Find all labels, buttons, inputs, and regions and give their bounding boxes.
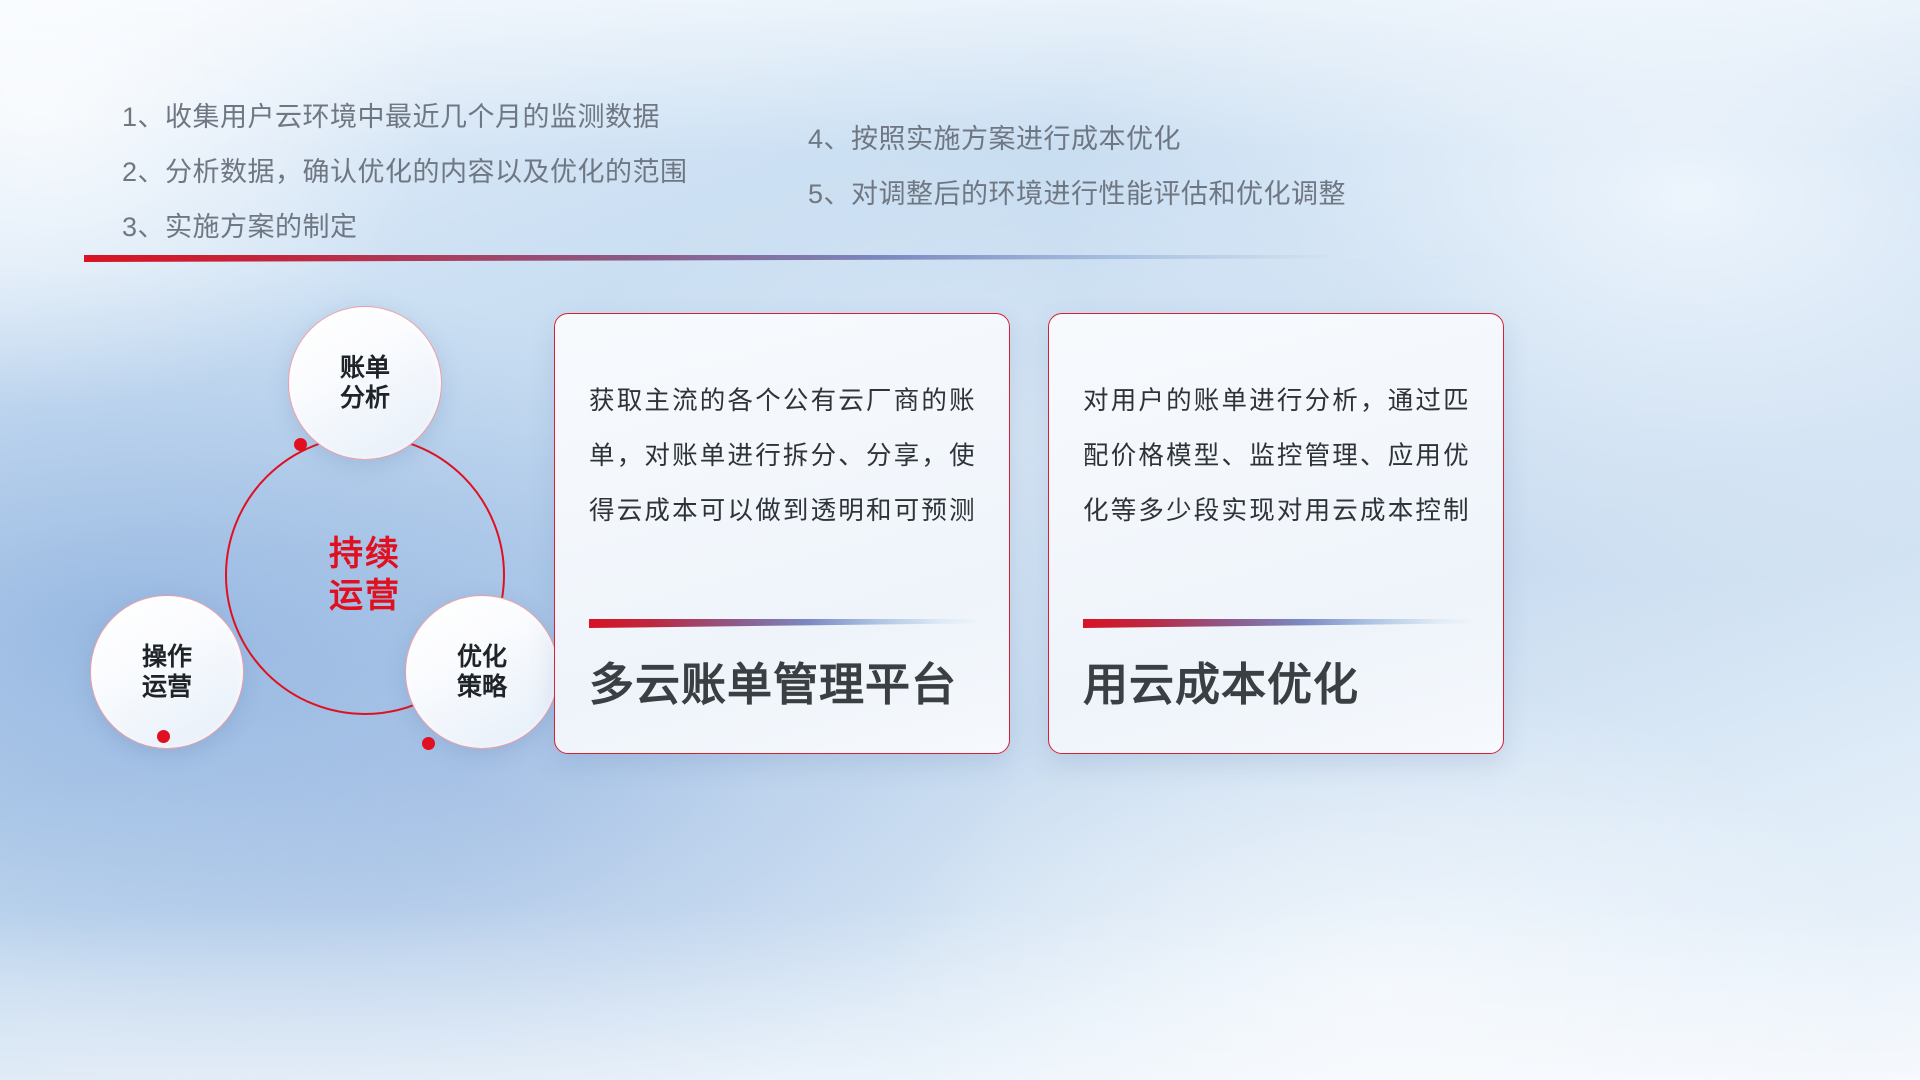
bullet-list-left: 1、收集用户云环境中最近几个月的监测数据 2、分析数据，确认优化的内容以及优化的… [122,104,688,269]
bullet-list-right: 4、按照实施方案进行成本优化 5、对调整后的环境进行性能评估和优化调整 [808,126,1346,236]
bubble-label-line1: 账单 [340,353,390,384]
card-title: 用云成本优化 [1083,662,1469,707]
card-accent-rule [1083,619,1475,628]
diagram-bubble-operations[interactable]: 操作 运营 [90,595,244,749]
bullet-item-1: 1、收集用户云环境中最近几个月的监测数据 [122,104,688,131]
bubble-label-line1: 优化 [457,642,507,673]
bullet-item-2: 2、分析数据，确认优化的内容以及优化的范围 [122,159,688,186]
diagram-bubble-optimization-strategy[interactable]: 优化 策略 [405,595,559,749]
bubble-label-line1: 操作 [142,642,192,673]
bullet-item-5: 5、对调整后的环境进行性能评估和优化调整 [808,181,1346,208]
diagram-bubble-bill-analysis[interactable]: 账单 分析 [288,306,442,460]
bubble-label-line2: 运营 [142,672,192,703]
card-cloud-cost-optimization[interactable]: 对用户的账单进行分析，通过匹配价格模型、监控管理、应用优化等多少段实现对用云成本… [1048,313,1504,754]
center-label-line1: 持续 [329,533,401,575]
bubble-label-line2: 分析 [340,383,390,414]
bullet-item-4: 4、按照实施方案进行成本优化 [808,126,1346,153]
continuous-operations-diagram: 持续 运营 账单 分析 操作 运营 优化 策略 [60,290,560,770]
card-accent-rule [589,619,981,628]
bullet-item-3: 3、实施方案的制定 [122,214,688,241]
diagram-node-dot-right [422,737,435,750]
diagram-node-dot-top [294,438,307,451]
card-multi-cloud-bill-platform[interactable]: 获取主流的各个公有云厂商的账单，对账单进行拆分、分享，使得云成本可以做到透明和可… [554,313,1010,754]
diagram-node-dot-left [157,730,170,743]
card-title: 多云账单管理平台 [589,662,975,707]
center-label-line2: 运营 [329,575,401,617]
bubble-label-line2: 策略 [457,672,507,703]
card-body-text: 对用户的账单进行分析，通过匹配价格模型、监控管理、应用优化等多少段实现对用云成本… [1083,374,1469,538]
card-body-text: 获取主流的各个公有云厂商的账单，对账单进行拆分、分享，使得云成本可以做到透明和可… [589,374,975,538]
